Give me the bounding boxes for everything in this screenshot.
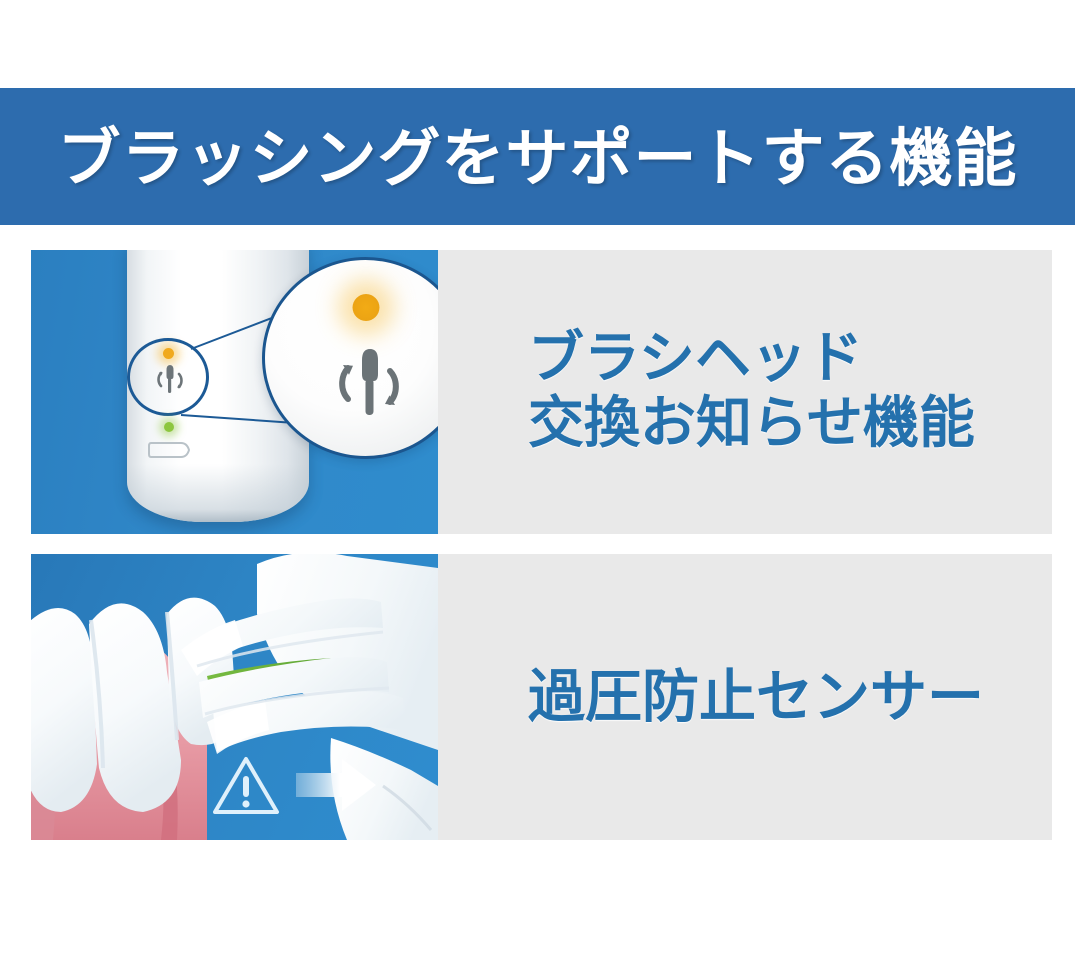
- teeth-and-brush-head-pressure-photo: [31, 554, 438, 840]
- magnified-brush-head-replacement-icon: [317, 344, 415, 426]
- battery-icon: [148, 441, 192, 459]
- feature-text-pane: ブラシヘッド 交換お知らせ機能: [438, 250, 1052, 534]
- feature-label: 過圧防止センサー: [528, 664, 984, 730]
- product-feature-graphic: ブラッシングをサポートする機能: [0, 0, 1075, 953]
- page-title: ブラッシングをサポートする機能: [58, 127, 1018, 190]
- header-banner: ブラッシングをサポートする機能: [0, 88, 1075, 225]
- feature-row-brush-head-replacement-reminder: ブラシヘッド 交換お知らせ機能: [31, 250, 1052, 534]
- feature-row-pressure-sensor: 過圧防止センサー: [31, 554, 1052, 840]
- feature-text-pane: 過圧防止センサー: [438, 554, 1052, 840]
- magnified-orange-led-indicator: [352, 294, 379, 321]
- warning-triangle-icon: [211, 754, 281, 816]
- right-arrow-icon: [296, 757, 376, 813]
- handle-detail-circle: [127, 338, 209, 416]
- toothbrush-handle-indicator-photo: [31, 250, 438, 534]
- green-led-indicator: [164, 422, 174, 432]
- feature-label: ブラシヘッド 交換お知らせ機能: [528, 327, 975, 457]
